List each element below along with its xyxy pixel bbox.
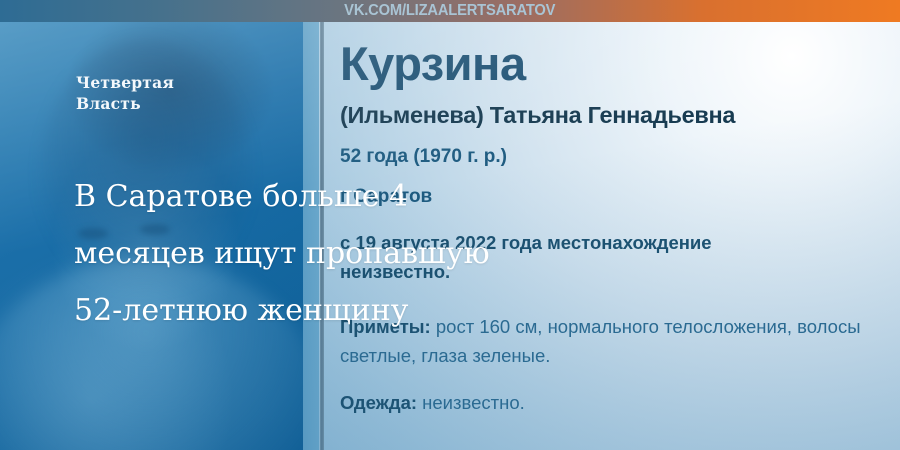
person-clothes-block: Одежда: неизвестно. — [340, 388, 896, 417]
poster-screenshot: VK.COM/LIZAALERTSARATOV Четвертая Власть… — [0, 0, 900, 450]
vk-url-text: VK.COM/LIZAALERTSARATOV — [344, 2, 555, 20]
clothes-label: Одежда: — [340, 392, 417, 413]
clothes-value: неизвестно. — [417, 392, 525, 413]
person-full-name: (Ильменева) Татьяна Геннадьевна — [340, 101, 735, 129]
top-banner: VK.COM/LIZAALERTSARATOV — [0, 0, 900, 22]
top-banner-inner: VK.COM/LIZAALERTSARATOV — [0, 0, 900, 22]
brand-label: Четвертая Власть — [76, 72, 276, 114]
person-age-line: 52 года (1970 г. р.) — [340, 145, 507, 169]
news-headline-overlay: В Саратове больше 4 месяцев ищут пропавш… — [74, 168, 874, 339]
person-surname: Курзина — [340, 38, 526, 90]
